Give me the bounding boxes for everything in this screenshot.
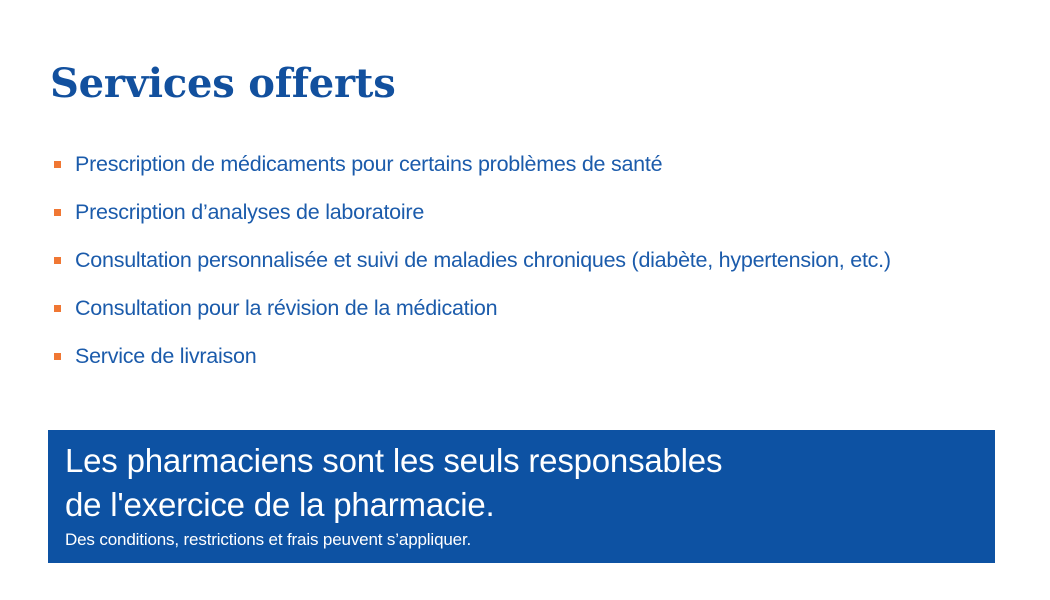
list-item-label: Service de livraison (75, 343, 256, 369)
page-title: Services offerts (50, 60, 396, 108)
list-item: Prescription d’analyses de laboratoire (52, 188, 1032, 236)
disclaimer-note: Des conditions, restrictions et frais pe… (65, 529, 995, 551)
square-bullet-icon (54, 353, 61, 360)
list-item-label: Consultation personnalisée et suivi de m… (75, 247, 891, 273)
list-item: Service de livraison (52, 332, 1032, 380)
disclaimer-banner: Les pharmaciens sont les seuls responsab… (48, 430, 995, 563)
list-item-label: Prescription de médicaments pour certain… (75, 151, 662, 177)
square-bullet-icon (54, 161, 61, 168)
disclaimer-headline: Les pharmaciens sont les seuls responsab… (65, 439, 995, 527)
square-bullet-icon (54, 257, 61, 264)
list-item: Consultation personnalisée et suivi de m… (52, 236, 1032, 284)
square-bullet-icon (54, 305, 61, 312)
slide-canvas: Services offerts Prescription de médicam… (0, 0, 1050, 600)
services-bullet-list: Prescription de médicaments pour certain… (52, 140, 1032, 380)
list-item-label: Consultation pour la révision de la médi… (75, 295, 497, 321)
list-item: Prescription de médicaments pour certain… (52, 140, 1032, 188)
list-item: Consultation pour la révision de la médi… (52, 284, 1032, 332)
list-item-label: Prescription d’analyses de laboratoire (75, 199, 424, 225)
square-bullet-icon (54, 209, 61, 216)
